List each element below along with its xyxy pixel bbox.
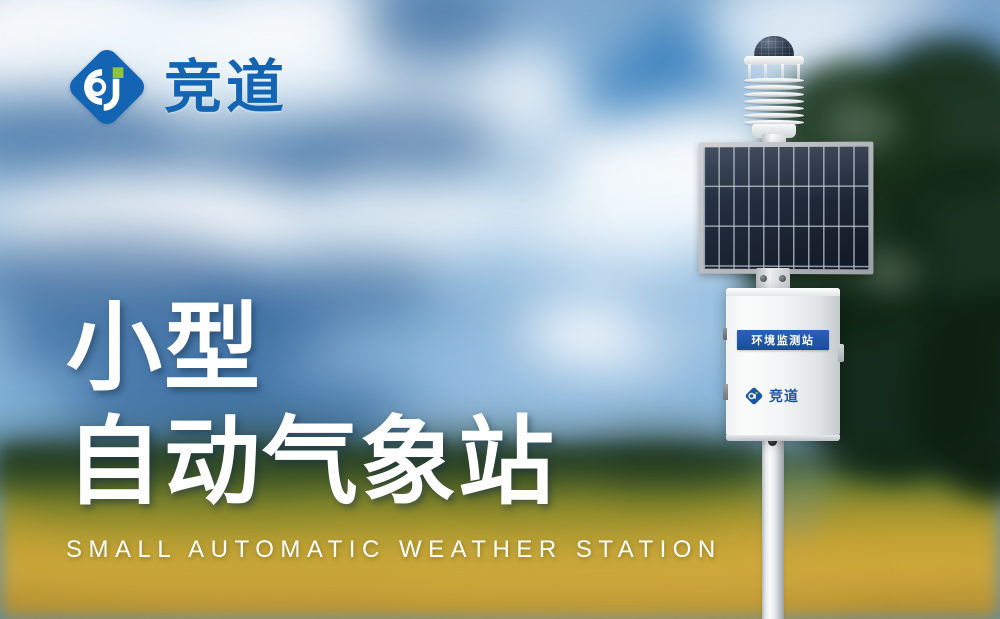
brand-name: 竞道	[164, 58, 288, 116]
brand-logo[interactable]: 竞道	[66, 46, 288, 128]
controller-box-logo-label: 竞道	[769, 386, 799, 406]
headline-block: 小型 自动气象站 SMALL AUTOMATIC WEATHER STATION	[66, 300, 722, 564]
controller-box: 环境监测站 竞道	[726, 288, 840, 436]
controller-box-logo: 竞道	[744, 386, 799, 406]
ultrasonic-weather-sensor-icon	[736, 34, 812, 142]
headline-line-1: 小型	[66, 300, 722, 396]
solar-panel-bracket	[756, 268, 790, 290]
promo-banner: 环境监测站 竞道	[0, 0, 1000, 619]
controller-box-banner-label: 环境监测站	[752, 332, 815, 348]
radiation-shield	[744, 78, 804, 126]
jingdao-diamond-logo-icon	[66, 46, 148, 128]
headline-line-2: 自动气象站	[66, 414, 722, 510]
headline-subtitle: SMALL AUTOMATIC WEATHER STATION	[66, 536, 722, 564]
solar-panel-icon	[698, 142, 873, 274]
jingdao-diamond-logo-icon	[744, 386, 764, 406]
mast-pole-lower	[762, 430, 784, 619]
controller-box-banner: 环境监测站	[737, 330, 829, 350]
